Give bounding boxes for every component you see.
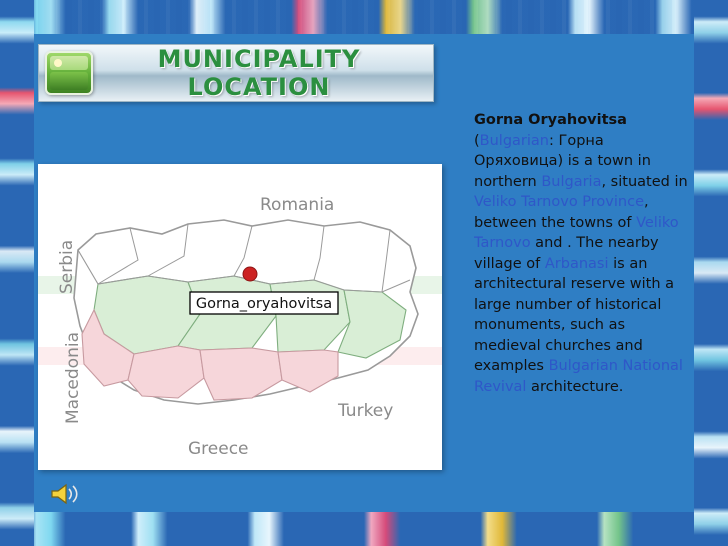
slide-title-banner: MUNICIPALITY LOCATION xyxy=(38,44,434,102)
map-label-turkey: Turkey xyxy=(337,401,393,421)
link-arbanasi[interactable]: Arbanasi xyxy=(545,256,609,272)
page-title: MUNICIPALITY LOCATION xyxy=(93,45,433,101)
slide-canvas: MUNICIPALITY LOCATION xyxy=(0,0,728,546)
map-panel: Gorna_oryahovitsa Romania Serbia Macedon… xyxy=(38,164,442,470)
text-architecture: architecture. xyxy=(526,379,623,395)
text-architectural-reserve: is an architectural reserve with a large… xyxy=(474,256,674,375)
map-label-serbia: Serbia xyxy=(57,240,77,294)
svg-text:Gorna_oryahovitsa: Gorna_oryahovitsa xyxy=(196,296,332,312)
decorative-border-left xyxy=(0,0,34,546)
map-marker-label: Gorna_oryahovitsa xyxy=(190,292,338,314)
landscape-image-icon xyxy=(45,51,93,95)
link-veliko-tarnovo-province[interactable]: Veliko Tarnovo Province xyxy=(474,194,644,210)
bulgaria-map: Gorna_oryahovitsa Romania Serbia Macedon… xyxy=(38,164,442,470)
map-label-macedonia: Macedonia xyxy=(63,332,83,424)
decorative-border-top-stripes xyxy=(0,0,728,34)
decorative-border-right xyxy=(694,0,728,546)
link-bulgarian[interactable]: Bulgarian xyxy=(480,133,549,149)
link-bulgaria[interactable]: Bulgaria xyxy=(541,174,601,190)
map-marker xyxy=(243,267,257,281)
text-situated-in: , situated in xyxy=(601,174,687,190)
map-label-greece: Greece xyxy=(188,439,249,459)
description-text: Gorna Oryahovitsa (Bulgarian: Горна Орях… xyxy=(474,110,694,522)
decorative-border-top xyxy=(0,0,728,34)
entry-heading: Gorna Oryahovitsa xyxy=(474,112,627,128)
speaker-icon[interactable] xyxy=(48,480,84,508)
map-label-romania: Romania xyxy=(260,195,334,215)
